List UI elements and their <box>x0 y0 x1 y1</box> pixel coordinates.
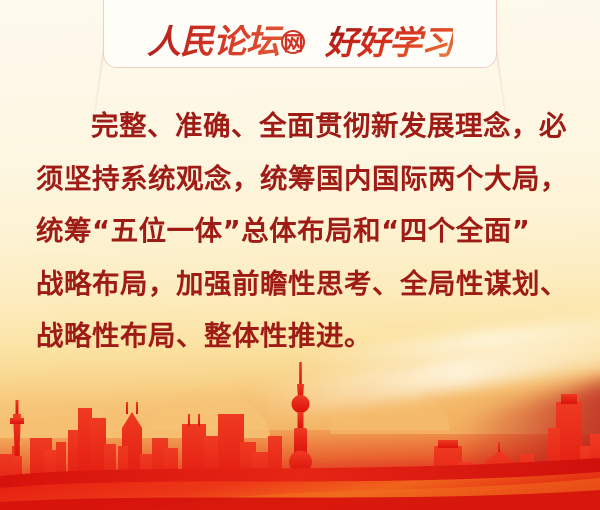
brand-net-icon: 网 <box>281 30 305 54</box>
quote-line-2: 须坚持系统观念，统筹国内国际两个大局， <box>36 153 564 206</box>
brand-logo: 人民论坛网 <box>147 25 305 59</box>
quote-block: 完整、准确、全面贯彻新发展理念，必 须坚持系统观念，统筹国内国际两个大局， 统筹… <box>0 100 600 363</box>
poster-canvas: 人民论坛网 好好学习 完整、准确、全面贯彻新发展理念，必 须坚持系统观念，统筹国… <box>0 0 600 510</box>
city-skyline-silhouette <box>0 350 600 510</box>
brand-logo-text: 人民论坛 <box>147 22 279 62</box>
slogan-logo: 好好学习 <box>325 26 453 59</box>
quote-line-3: 统筹“五位一体”总体布局和“四个全面” <box>36 205 564 258</box>
logo-panel: 人民论坛网 好好学习 <box>103 0 497 68</box>
quote-line-4: 战略布局，加强前瞻性思考、全局性谋划、 <box>36 258 564 311</box>
quote-line-5: 战略性布局、整体性推进。 <box>36 310 564 363</box>
quote-line-1: 完整、准确、全面贯彻新发展理念，必 <box>36 100 564 153</box>
